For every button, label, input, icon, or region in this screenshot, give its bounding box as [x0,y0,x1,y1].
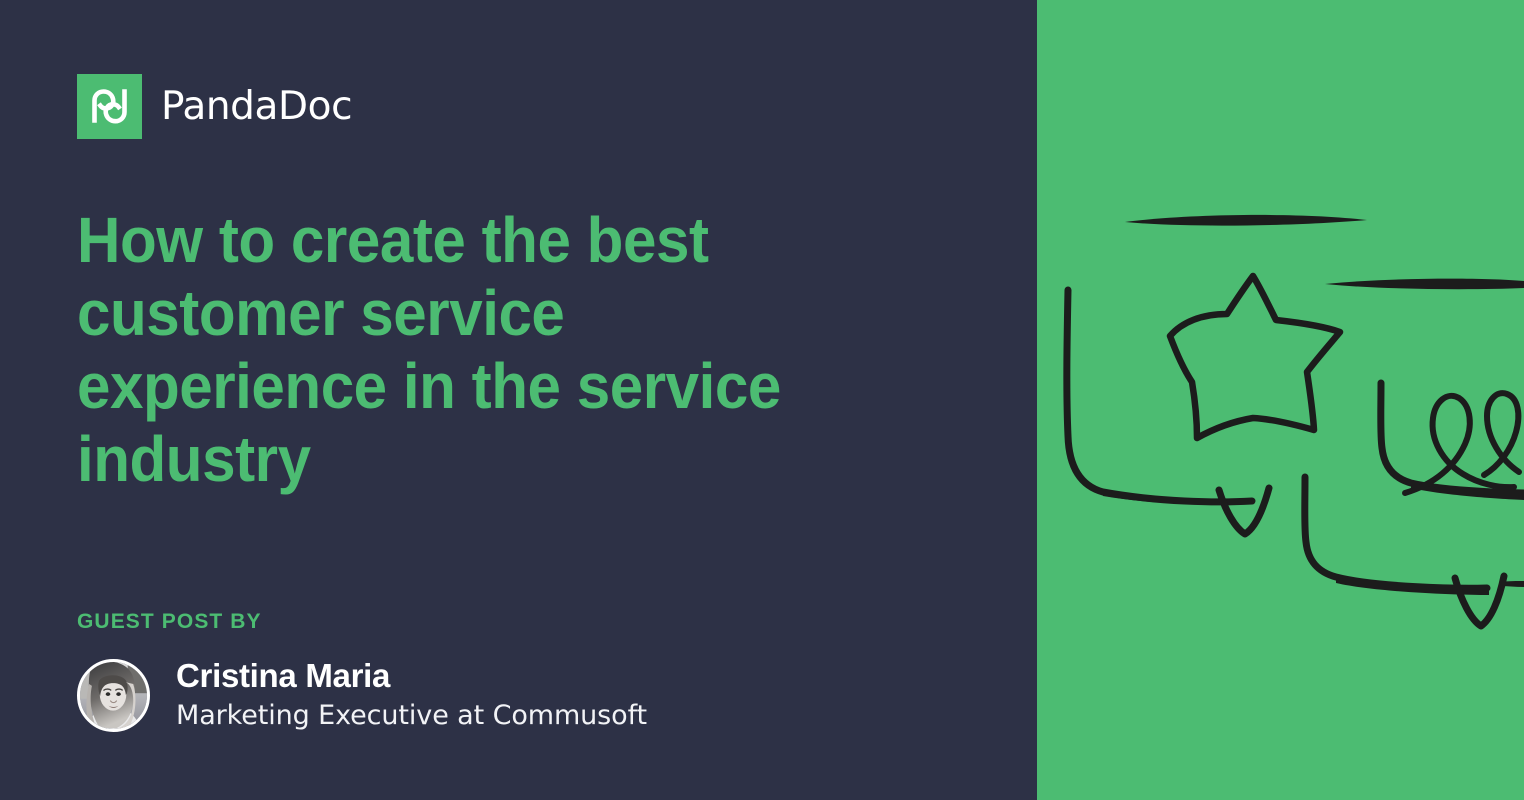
author-role: Marketing Executive at Commusoft [176,700,647,732]
page-title: How to create the best customer service … [77,204,857,496]
left-content-panel: PandaDoc How to create the best customer… [0,0,1037,800]
pandadoc-wordmark: PandaDoc [161,87,352,126]
pandadoc-pd-monogram-icon [77,74,142,139]
author-portrait-avatar [77,659,150,732]
hand-drawn-speech-bubbles-with-star-icon [1037,0,1524,800]
illustration-panel [1037,0,1524,800]
blog-post-hero-banner: PandaDoc How to create the best customer… [0,0,1524,800]
guest-post-label: GUEST POST BY [77,611,647,632]
pandadoc-logo[interactable]: PandaDoc [77,74,352,139]
author-name: Cristina Maria [176,658,647,695]
author-block: GUEST POST BY [77,611,647,732]
author-row: Cristina Maria Marketing Executive at Co… [77,658,647,732]
author-text: Cristina Maria Marketing Executive at Co… [176,658,647,732]
